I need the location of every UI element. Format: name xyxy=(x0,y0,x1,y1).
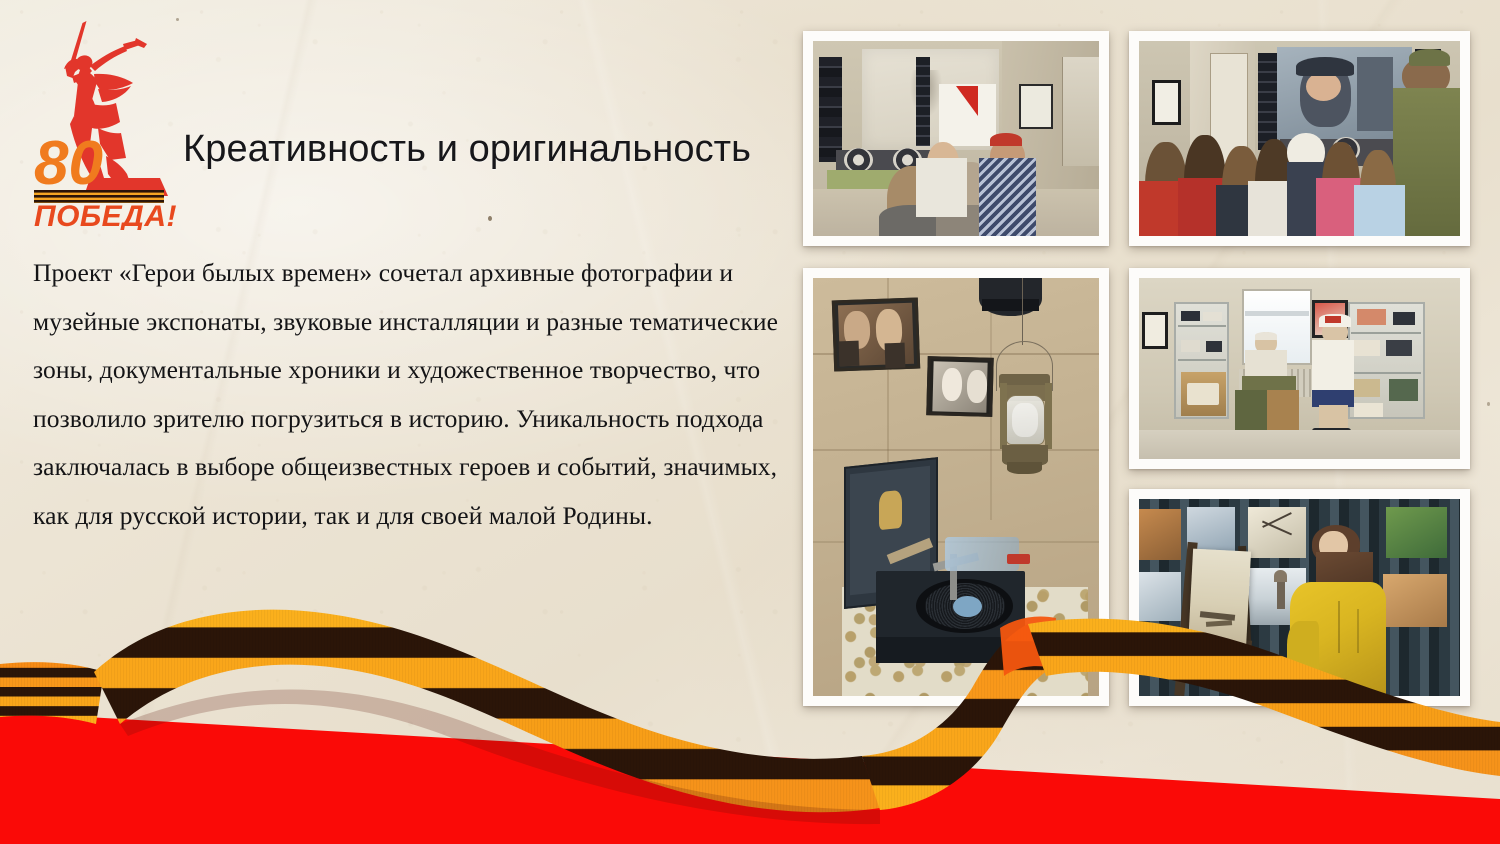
victory-80-logo: 80 ПОБЕДА! xyxy=(28,18,180,230)
red-banner-wedge xyxy=(0,712,1500,844)
logo-anniversary-number: 80 xyxy=(34,129,103,198)
photo-children-watching-film xyxy=(1129,31,1470,246)
logo-victory-word: ПОБЕДА! xyxy=(34,200,177,230)
paper-speck xyxy=(488,216,492,221)
photo-image xyxy=(1139,41,1460,236)
photo-image xyxy=(1139,499,1460,696)
photo-museum-lecture-audience xyxy=(803,31,1109,246)
presentation-slide: 80 ПОБЕДА! Креативность и оригинальность… xyxy=(0,0,1500,844)
photo-image xyxy=(813,278,1099,696)
photo-museum-diorama-mannequins xyxy=(1129,268,1470,469)
body-paragraph: Проект «Герои былых времен» сочетал архи… xyxy=(33,249,803,540)
ribbon-left-tail xyxy=(0,662,104,724)
ribbon-shadow xyxy=(120,689,880,824)
photo-image xyxy=(1139,278,1460,459)
ribbon-main-sweep xyxy=(94,610,880,813)
photo-gramophone-exhibit xyxy=(803,268,1109,706)
photo-image xyxy=(813,41,1099,236)
paper-speck xyxy=(1487,402,1490,406)
photo-art-exhibition-visitor xyxy=(1129,489,1470,706)
page-title: Креативность и оригинальность xyxy=(183,128,751,171)
